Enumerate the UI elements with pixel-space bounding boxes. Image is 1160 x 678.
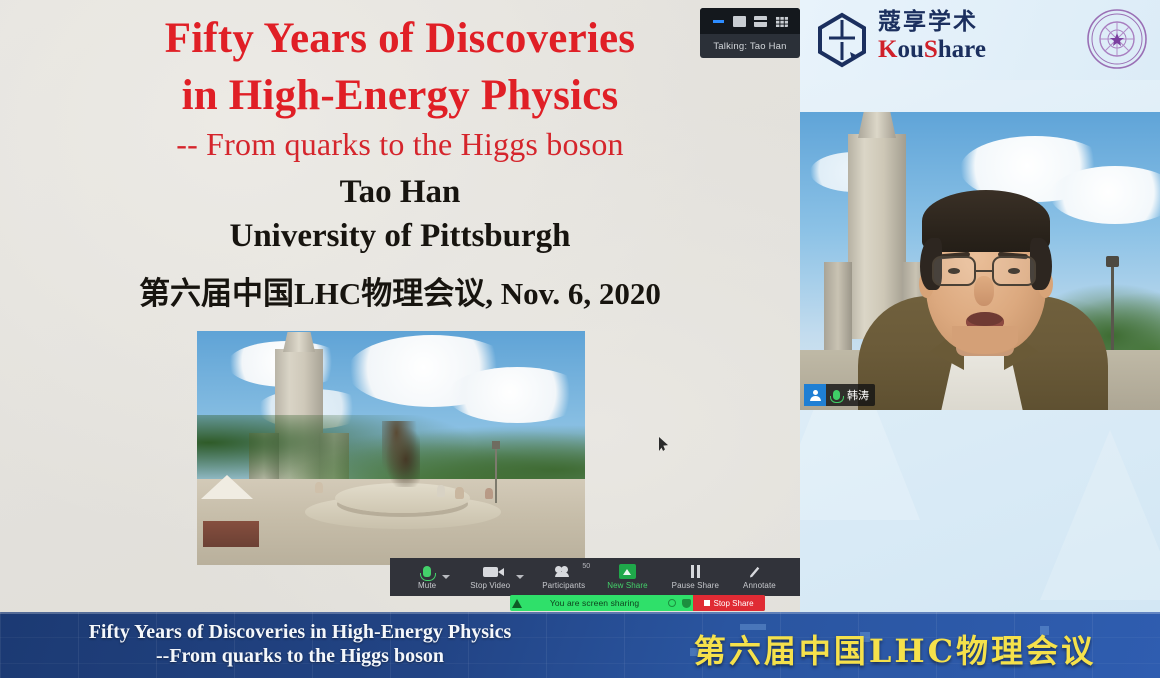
single-view-icon[interactable] (733, 16, 746, 27)
brand-hare: hare (938, 36, 986, 63)
broadcast-bottom-banner: Fifty Years of Discoveries in High-Energ… (0, 612, 1160, 678)
speaker-glasses-right (992, 256, 1036, 286)
video-lamppost (1111, 266, 1114, 352)
brand-ou: ou (897, 36, 923, 63)
talking-indicator: Talking: Tao Han (700, 34, 800, 58)
branding-header: 蔻享学术 KouShare (800, 0, 1160, 80)
sharing-status-text: You are screen sharing (524, 598, 665, 608)
slide-title-line1: Fifty Years of Discoveries (0, 14, 800, 63)
slide-author-affiliation: University of Pittsburgh (0, 218, 800, 255)
koushare-logo-icon (814, 12, 870, 68)
banner-english-title: Fifty Years of Discoveries in High-Energ… (0, 620, 600, 669)
toolbar-label-participants: Participants (542, 581, 585, 590)
toolbar-label-annotate: Annotate (743, 581, 776, 590)
avatar-person-icon (804, 384, 826, 406)
slide-author-name: Tao Han (0, 174, 800, 211)
banner-title-line2: --From quarks to the Higgs boson (0, 644, 600, 668)
brand-name-english: KouShare (878, 36, 986, 64)
photo-person (485, 488, 493, 499)
brand-k: K (878, 36, 897, 63)
stop-square-icon (704, 600, 710, 606)
photo-person (437, 485, 445, 497)
toolbar-button-participants[interactable]: 50 Participants (538, 558, 589, 596)
shared-screen-slide: Fifty Years of Discoveries in High-Energ… (0, 0, 800, 612)
toolbar-button-stop-video[interactable]: Stop Video (466, 558, 514, 596)
speaker-glasses-bridge (976, 270, 992, 273)
camera-icon (483, 564, 498, 579)
mouse-cursor (659, 437, 668, 451)
sharing-arrow-icon (510, 599, 524, 608)
slide-campus-photo (197, 331, 585, 565)
minimize-view-icon[interactable] (712, 16, 725, 27)
mute-chevron-down-icon[interactable] (442, 575, 450, 579)
share-screen-icon (619, 564, 636, 579)
video-chevron-down-icon[interactable] (516, 575, 524, 579)
recording-dot-icon[interactable] (665, 599, 679, 607)
split-view-icon[interactable] (754, 16, 767, 27)
participants-icon: 50 (555, 564, 573, 579)
video-tower-wing (824, 262, 852, 364)
gallery-view-icon[interactable] (775, 16, 788, 27)
toolbar-label-stop-video: Stop Video (470, 581, 510, 590)
microphone-icon (423, 564, 431, 579)
speaker-chin (952, 326, 1018, 354)
stop-share-button[interactable]: Stop Share (693, 595, 765, 611)
banner-title-line1: Fifty Years of Discoveries in High-Energ… (0, 620, 600, 644)
pause-icon (691, 564, 700, 579)
photo-person (455, 487, 464, 499)
banner-chinese-title: 第六届中国LHC物理会议 (660, 626, 1130, 672)
zoom-view-controls[interactable]: Talking: Tao Han (700, 8, 800, 58)
video-participant-name: 韩涛 (846, 387, 875, 403)
shield-icon[interactable] (679, 599, 693, 608)
speaker-glasses-left (932, 256, 976, 286)
toolbar-button-new-share[interactable]: New Share (603, 558, 651, 596)
toolbar-button-pause-share[interactable]: Pause Share (668, 558, 723, 596)
view-mode-row[interactable] (700, 8, 800, 34)
photo-bench (203, 521, 259, 547)
speaker-nose (974, 276, 994, 306)
screen-sharing-status-bar[interactable]: You are screen sharing Stop Share (510, 595, 765, 611)
photo-person (315, 482, 323, 493)
stop-share-label: Stop Share (713, 599, 753, 608)
photo-fountain-bowl (335, 483, 470, 513)
brand-text: 蔻享学术 KouShare (878, 10, 986, 64)
brand-name-chinese: 蔻享学术 (878, 10, 986, 35)
slide-title-line2: in High-Energy Physics (0, 71, 800, 120)
photo-fountain-statue (382, 421, 420, 487)
speaker-video-tile[interactable]: 韩涛 (800, 112, 1160, 410)
photo-lamppost (495, 447, 497, 503)
brand-s: S (924, 36, 938, 63)
panel-decoration (1040, 430, 1160, 600)
pencil-icon (752, 564, 766, 579)
video-participant-nameplate: 韩涛 (804, 384, 875, 406)
participants-count: 50 (582, 563, 590, 570)
toolbar-label-pause-share: Pause Share (672, 581, 719, 590)
zoom-meeting-toolbar[interactable]: Mute Stop Video 50 Participants New Shar… (390, 558, 800, 596)
toolbar-button-mute[interactable]: Mute (414, 558, 440, 596)
microphone-icon (826, 390, 846, 400)
slide-conference-line: 第六届中国LHC物理会议, Nov. 6, 2020 (0, 268, 800, 313)
toolbar-button-annotate[interactable]: Annotate (739, 558, 780, 596)
toolbar-label-mute: Mute (418, 581, 436, 590)
broadcast-right-panel: 蔻享学术 KouShare (800, 0, 1160, 612)
slide-subtitle: -- From quarks to the Higgs boson (0, 126, 800, 163)
university-seal-icon (1086, 8, 1148, 70)
toolbar-label-new-share: New Share (607, 581, 647, 590)
broadcast-stage: Fifty Years of Discoveries in High-Energ… (0, 0, 1160, 678)
